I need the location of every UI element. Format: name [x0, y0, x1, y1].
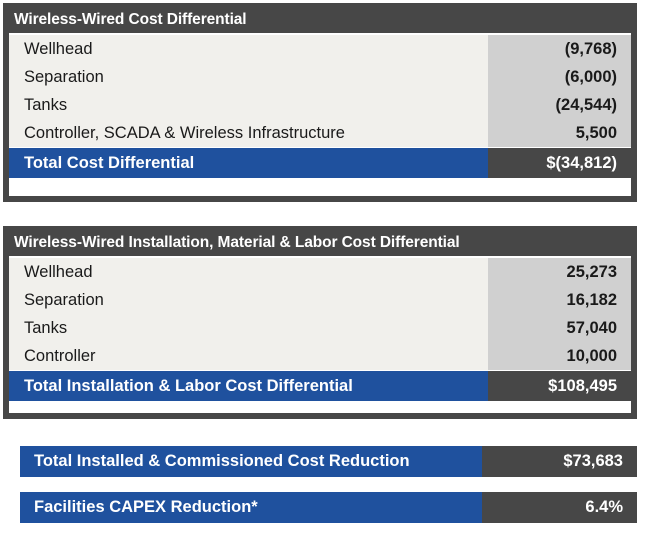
- row-value: 57,040: [488, 319, 631, 338]
- row-label: Controller, SCADA & Wireless Infrastruct…: [9, 124, 488, 143]
- table-total-row: Total Cost Differential $(34,812): [9, 148, 631, 178]
- row-label: Separation: [9, 68, 488, 87]
- row-value: 25,273: [488, 263, 631, 282]
- row-label: Wellhead: [9, 263, 488, 282]
- row-label: Separation: [9, 291, 488, 310]
- total-value: $(34,812): [488, 148, 631, 178]
- table-body: Wellhead (9,768) Separation (6,000) Tank…: [9, 35, 631, 147]
- summary-label: Facilities CAPEX Reduction*: [20, 492, 482, 523]
- row-value: 10,000: [488, 347, 631, 366]
- table-row: Tanks (24,544): [9, 91, 631, 119]
- installation-labor-differential-table: Wireless-Wired Installation, Material & …: [3, 226, 637, 419]
- table-title-cost-differential: Wireless-Wired Cost Differential: [7, 7, 631, 33]
- summary-value: 6.4%: [482, 492, 637, 523]
- row-label: Wellhead: [9, 40, 488, 59]
- summary-label: Total Installed & Commissioned Cost Redu…: [20, 446, 482, 477]
- total-value: $108,495: [488, 371, 631, 401]
- summary-bar-total-installed-commissioned: Total Installed & Commissioned Cost Redu…: [20, 446, 637, 477]
- table-row: Tanks 57,040: [9, 314, 631, 342]
- row-label: Controller: [9, 347, 488, 366]
- row-value: (9,768): [488, 40, 631, 59]
- table-row: Wellhead (9,768): [9, 35, 631, 63]
- table-row: Controller 10,000: [9, 342, 631, 370]
- table-row: Separation (6,000): [9, 63, 631, 91]
- row-value: (6,000): [488, 68, 631, 87]
- cost-differential-table: Wireless-Wired Cost Differential Wellhea…: [3, 3, 637, 202]
- table-row: Controller, SCADA & Wireless Infrastruct…: [9, 119, 631, 147]
- table-body: Wellhead 25,273 Separation 16,182 Tanks …: [9, 258, 631, 370]
- table-title-installation-labor: Wireless-Wired Installation, Material & …: [7, 230, 631, 256]
- total-label: Total Installation & Labor Cost Differen…: [9, 371, 488, 401]
- row-value: 16,182: [488, 291, 631, 310]
- summary-bar-facilities-capex-reduction: Facilities CAPEX Reduction* 6.4%: [20, 492, 637, 523]
- row-value: 5,500: [488, 124, 631, 143]
- table-total-row: Total Installation & Labor Cost Differen…: [9, 371, 631, 401]
- row-value: (24,544): [488, 96, 631, 115]
- table-row: Separation 16,182: [9, 286, 631, 314]
- cost-differential-summary: Wireless-Wired Cost Differential Wellhea…: [0, 0, 650, 535]
- table-row: Wellhead 25,273: [9, 258, 631, 286]
- summary-value: $73,683: [482, 446, 637, 477]
- row-label: Tanks: [9, 319, 488, 338]
- total-label: Total Cost Differential: [9, 148, 488, 178]
- row-label: Tanks: [9, 96, 488, 115]
